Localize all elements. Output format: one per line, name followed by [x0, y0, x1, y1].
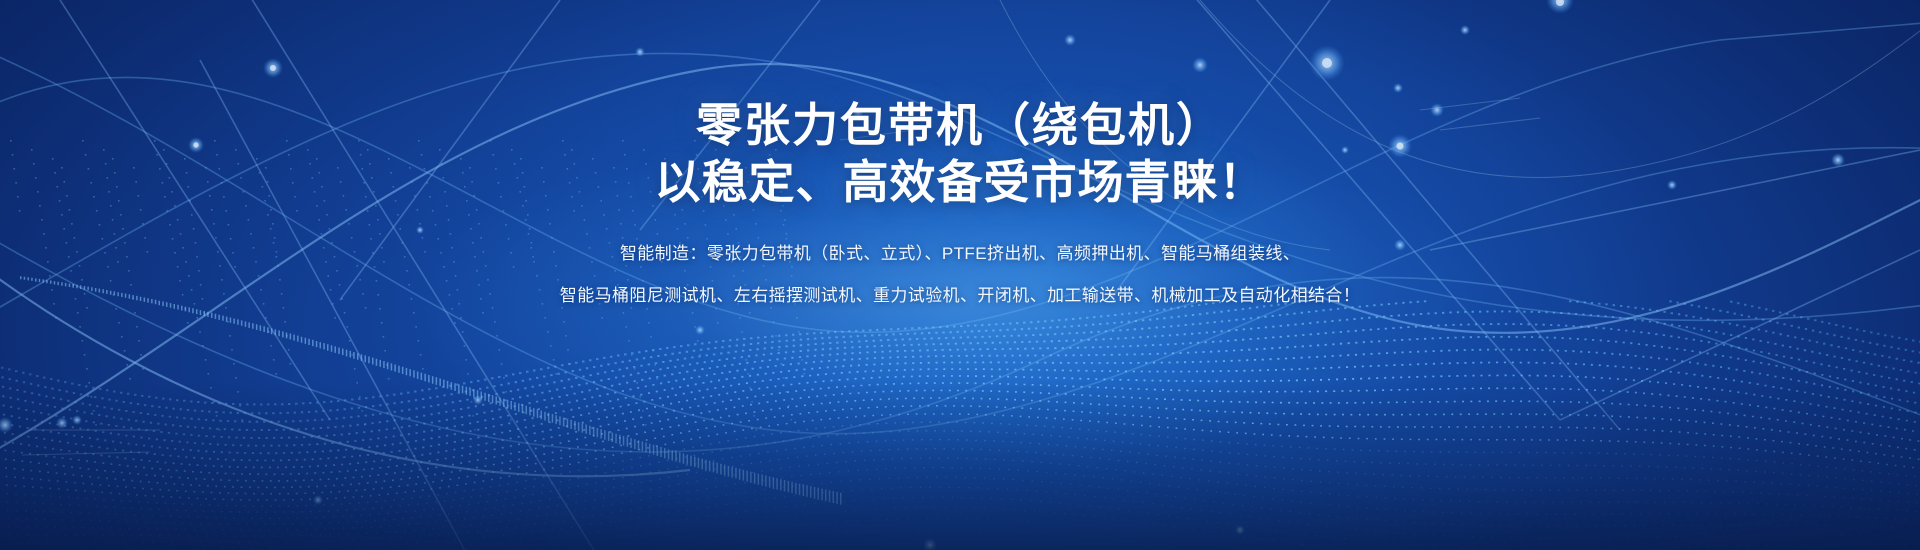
- subtitle-block: 智能制造：零张力包带机（卧式、立式）、PTFE挤出机、高频押出机、智能马桶组装线…: [0, 233, 1920, 317]
- banner-subtitle-line-1: 智能制造：零张力包带机（卧式、立式）、PTFE挤出机、高频押出机、智能马桶组装线…: [0, 233, 1920, 275]
- banner-title-line-2: 以稳定、高效备受市场青睐！: [0, 154, 1920, 211]
- banner-subtitle-line-2: 智能马桶阻尼测试机、左右摇摆测试机、重力试验机、开闭机、加工输送带、机械加工及自…: [0, 275, 1920, 317]
- hero-banner: 零张力包带机（绕包机） 以稳定、高效备受市场青睐！ 智能制造：零张力包带机（卧式…: [0, 0, 1920, 550]
- title-block: 零张力包带机（绕包机） 以稳定、高效备受市场青睐！: [0, 0, 1920, 211]
- bottom-fade-overlay: [0, 380, 1920, 550]
- banner-title-line-1: 零张力包带机（绕包机）: [0, 97, 1920, 154]
- banner-content: 零张力包带机（绕包机） 以稳定、高效备受市场青睐！ 智能制造：零张力包带机（卧式…: [0, 0, 1920, 317]
